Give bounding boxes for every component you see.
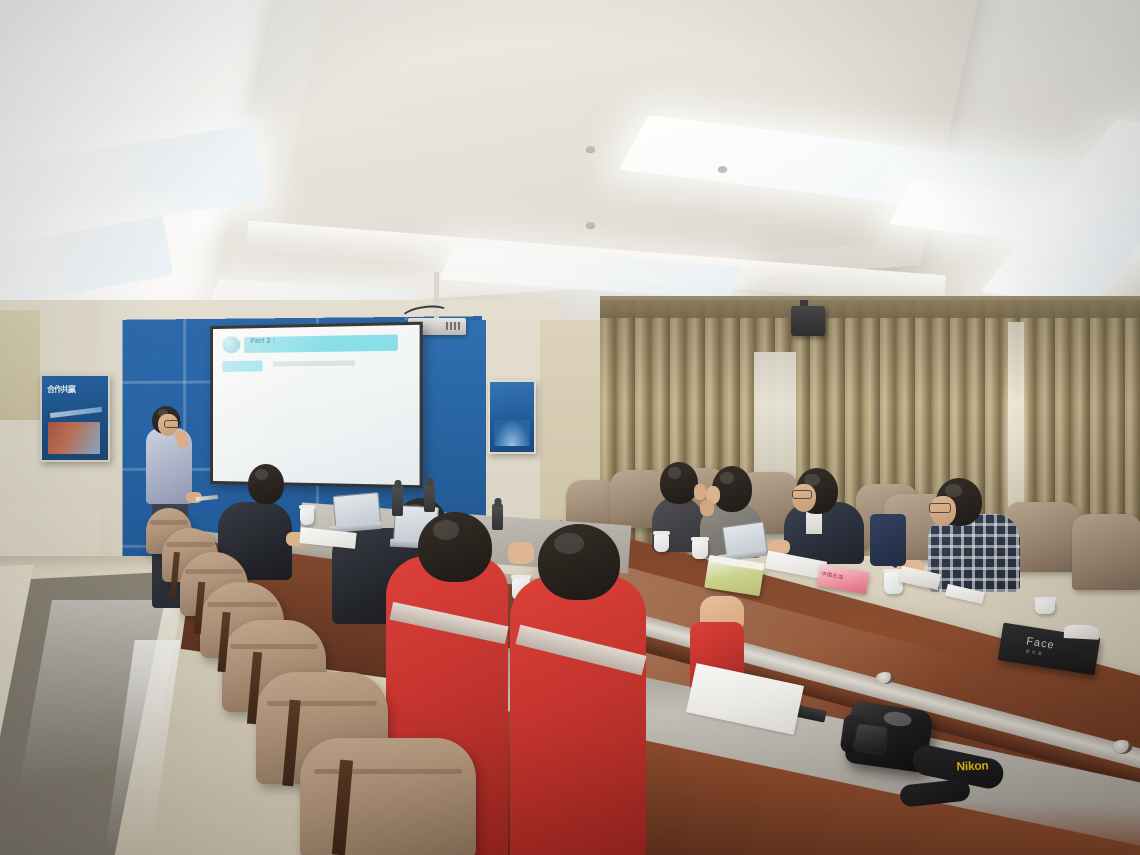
poster-left-text: 合作共赢 — [47, 386, 75, 394]
conference-microphone — [492, 504, 503, 530]
worker-red-2-head — [538, 524, 620, 600]
attendee-woman-1-head — [660, 462, 698, 504]
camera-lens-icon — [852, 721, 890, 755]
screen-glare — [213, 325, 420, 485]
wall-poster-right — [488, 380, 536, 454]
smoke-detector-icon — [586, 146, 595, 152]
attendee-woman-1-face — [694, 484, 706, 500]
projection-screen: Part 2 : — [210, 322, 423, 489]
tissue-sheet — [1063, 624, 1099, 640]
conference-chair — [1072, 514, 1140, 590]
tea-mug — [654, 534, 669, 552]
conference-room-photo: Part 2 : 合作共赢 — [0, 0, 1140, 855]
glasses-icon — [929, 503, 951, 513]
worker-red-1-head — [418, 512, 492, 582]
shoulder-bag — [870, 514, 906, 566]
table-cable-grommet — [1112, 740, 1132, 754]
glasses-icon — [792, 490, 812, 499]
wall-speaker-icon — [791, 306, 825, 336]
poster-right-graphic — [494, 420, 530, 446]
poster-left-photo — [48, 422, 100, 454]
conference-microphone — [424, 484, 435, 512]
attendee-suit-left-head — [248, 464, 284, 504]
poster-left-graphic — [50, 407, 102, 418]
attendee-woman-2-hand — [700, 500, 714, 516]
table-cable-grommet — [876, 672, 894, 684]
tea-mug — [1035, 600, 1055, 614]
name-placard-text: 中国石油 — [821, 570, 844, 581]
camera-highlight — [883, 710, 913, 727]
tea-mug — [692, 540, 708, 559]
smoke-detector-icon — [586, 222, 595, 228]
conference-microphone — [392, 486, 403, 516]
wall-poster-left: 合作共赢 — [40, 374, 110, 462]
tea-mug — [300, 508, 314, 525]
camera-brand-label: Nikon — [956, 758, 988, 773]
left-wall-band — [0, 310, 40, 420]
worker-red-2-hand — [508, 542, 534, 564]
conference-chair — [300, 738, 476, 855]
glasses-icon — [164, 420, 181, 428]
smoke-detector-icon — [718, 166, 727, 172]
curtain-rail — [600, 296, 1140, 318]
worker-red-2-body — [510, 576, 646, 855]
